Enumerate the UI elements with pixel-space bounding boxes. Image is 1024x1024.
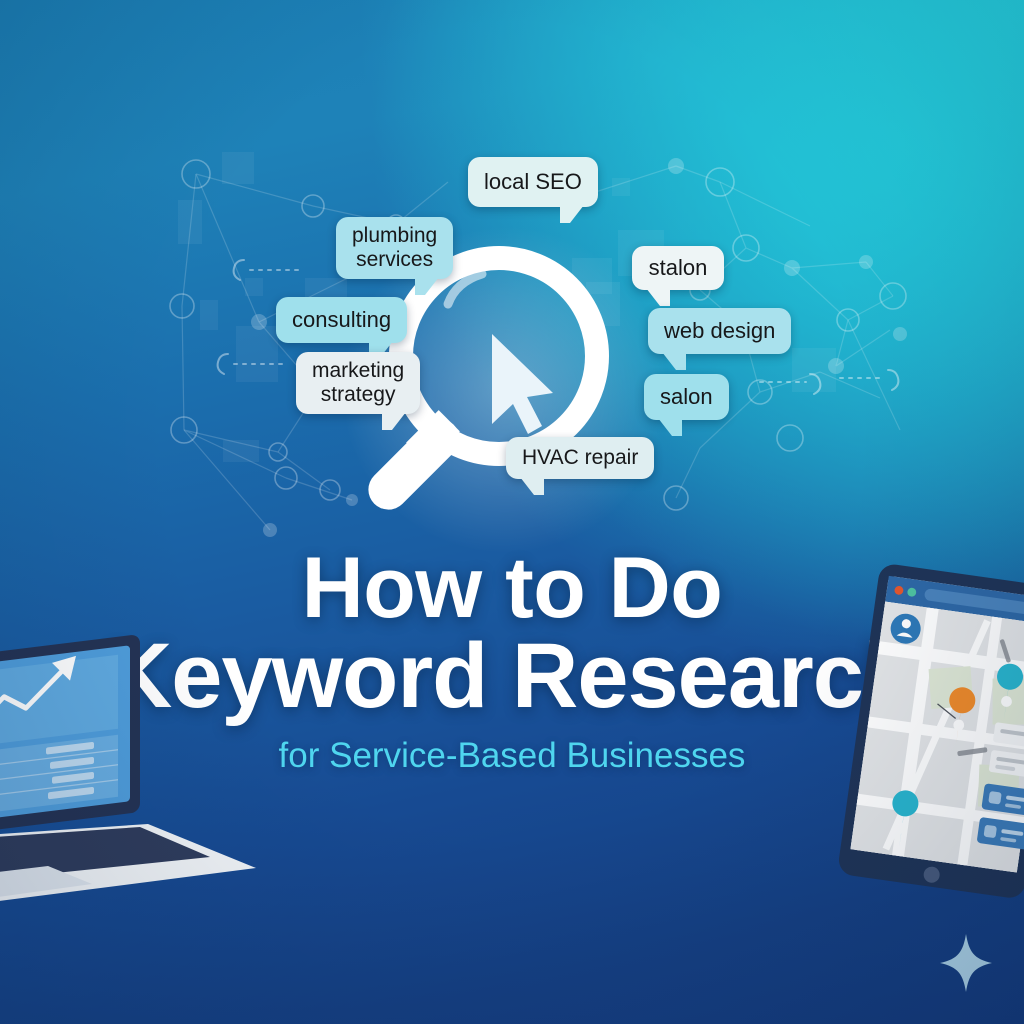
- keyword-bubble-salon: salon: [644, 374, 729, 420]
- keyword-bubble-label: stalon: [649, 256, 708, 281]
- title-line-1: How to Do: [302, 540, 723, 636]
- keyword-bubble-label: HVAC repair: [522, 446, 638, 470]
- keyword-bubble-label: plumbing services: [352, 224, 437, 271]
- keyword-bubble-web-design: web design: [648, 308, 791, 354]
- bubble-tail: [415, 277, 439, 295]
- bubble-tail: [520, 477, 544, 495]
- keyword-bubble-label: web design: [664, 319, 775, 344]
- keyword-bubble-local-seo: local SEO: [468, 157, 598, 207]
- bubble-tail: [646, 288, 670, 306]
- keyword-bubble-hvac-repair: HVAC repair: [506, 437, 654, 479]
- keyword-bubble-marketing-strategy: marketing strategy: [296, 352, 420, 414]
- keyword-bubble-label: marketing strategy: [312, 359, 404, 406]
- bubble-tail: [560, 205, 584, 223]
- keyword-bubble-stalon: stalon: [632, 246, 724, 290]
- keyword-bubble-label: salon: [660, 385, 713, 410]
- bubble-tail: [382, 412, 406, 430]
- bubble-tail: [662, 352, 686, 370]
- laptop-device: [0, 614, 260, 904]
- tablet-device: [836, 560, 1024, 900]
- keyword-bubble-consulting: consulting: [276, 297, 407, 343]
- sparkle-star: [938, 932, 994, 994]
- arrow-cursor: [492, 334, 553, 434]
- bubble-tail: [658, 418, 682, 436]
- cover-canvas: local SEOplumbing servicesconsultingmark…: [0, 0, 1024, 1024]
- keyword-bubble-label: local SEO: [484, 170, 582, 195]
- keyword-bubble-label: consulting: [292, 308, 391, 333]
- keyword-bubble-plumbing-services: plumbing services: [336, 217, 453, 279]
